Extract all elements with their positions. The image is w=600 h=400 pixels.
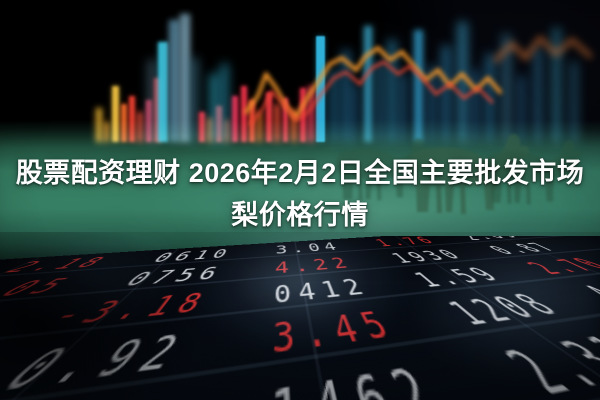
headline: 股票配资理财 2026年2月2日全国主要批发市场 梨价格行情 <box>0 152 600 236</box>
stock-news-banner: 1287-0.4109502.1806103.041.762.092.51038… <box>0 0 600 400</box>
headline-line-2: 梨价格行情 <box>0 194 600 236</box>
headline-line-1: 股票配资理财 2026年2月2日全国主要批发市场 <box>0 152 600 194</box>
ticker-board-shadow <box>0 232 600 400</box>
